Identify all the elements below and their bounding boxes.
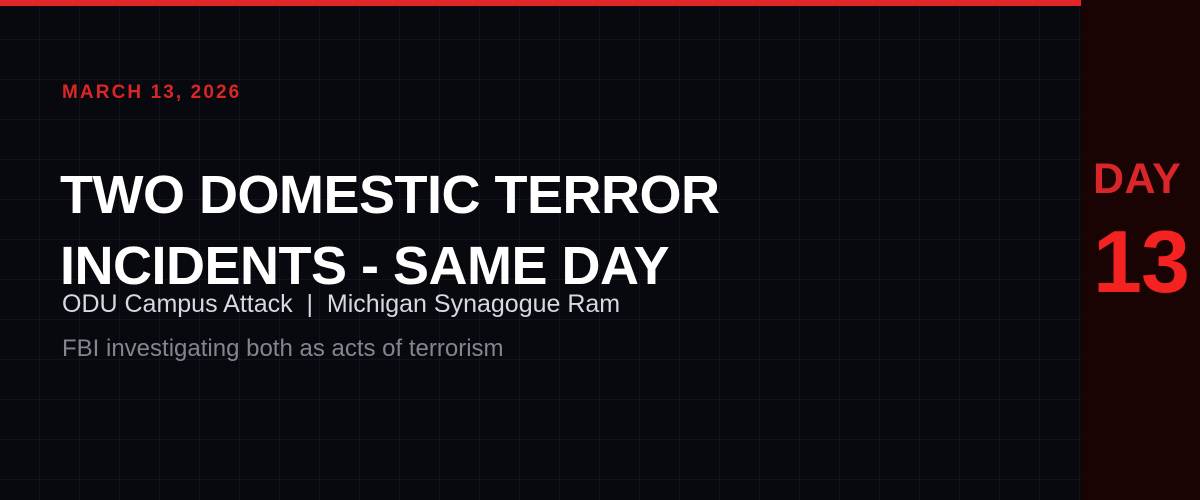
day-counter-panel: DAY 13 bbox=[1081, 0, 1200, 500]
page-title: TWO DOMESTIC TERROR INCIDENTS - SAME DAY bbox=[60, 160, 1060, 303]
day-counter-label: DAY bbox=[1093, 155, 1181, 204]
date-label: MARCH 13, 2026 bbox=[62, 82, 241, 104]
content-panel: MARCH 13, 2026 TWO DOMESTIC TERROR INCID… bbox=[0, 0, 1081, 500]
day-counter-value: 13 bbox=[1093, 218, 1189, 306]
investigation-note: FBI investigating both as acts of terror… bbox=[62, 335, 504, 363]
incident-summary: ODU Campus Attack | Michigan Synagogue R… bbox=[62, 290, 620, 319]
news-card: MARCH 13, 2026 TWO DOMESTIC TERROR INCID… bbox=[0, 0, 1200, 500]
top-accent-bar bbox=[0, 0, 1081, 6]
